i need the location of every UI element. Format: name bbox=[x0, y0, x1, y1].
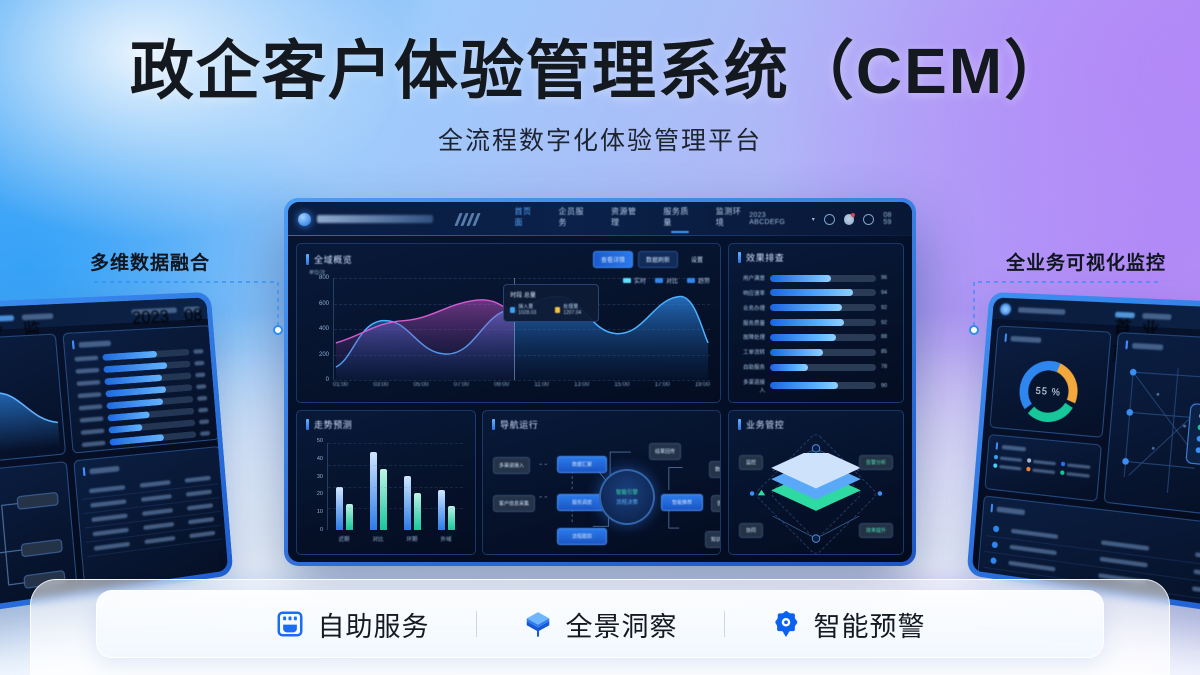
side-left-area-chart bbox=[0, 370, 67, 461]
side-right-map-card bbox=[1104, 332, 1200, 522]
trend-y-tick-4: 10 bbox=[317, 509, 323, 515]
side-left-bar-track bbox=[107, 408, 194, 422]
dashboard-nav: 首页面企员服务资源管理服务质量监测环境 bbox=[514, 206, 749, 232]
side-left-nav-item-1[interactable]: 业务管理 bbox=[0, 314, 14, 321]
x-tick-7: 15:00 bbox=[614, 382, 629, 394]
side-left-bar-label-6 bbox=[81, 428, 105, 435]
side-left-bar-label-3 bbox=[77, 392, 101, 398]
ranking-value-4: 88 bbox=[881, 334, 893, 340]
side-left-cell-2-1 bbox=[142, 508, 173, 516]
bell-icon[interactable] bbox=[844, 214, 855, 225]
flow-header: 导航运行 bbox=[483, 411, 720, 431]
x-axis: 01:0003:0005:0007:0009:0011:0013:0015:00… bbox=[333, 382, 710, 394]
x-tick-6: 13:00 bbox=[574, 382, 589, 394]
feature-label-1: 全景洞察 bbox=[566, 605, 678, 644]
side-right-donut-card: 55 % bbox=[989, 325, 1111, 437]
side-right-legend-item-4[interactable] bbox=[1026, 467, 1057, 475]
tooltip-item-1: 处理量 1207.04 bbox=[555, 303, 592, 316]
side-left-bar-value-7 bbox=[200, 431, 210, 436]
flow-output-top[interactable]: 结果回传 bbox=[649, 443, 681, 460]
ranking-label-2: 业务办理 bbox=[739, 304, 765, 312]
row-status-icon bbox=[993, 525, 999, 532]
row-status-icon bbox=[992, 541, 998, 548]
side-right-legend-item-2[interactable] bbox=[1061, 462, 1093, 470]
side-left-nav-item-2[interactable]: 监测分析 bbox=[22, 313, 54, 320]
flow-step-0[interactable]: 数据汇聚 bbox=[557, 456, 607, 473]
side-left-bar-list bbox=[74, 348, 210, 448]
trend-x-axis: 近期对比环期外域 bbox=[327, 532, 463, 546]
overview-header: 全域概览 查看详情 数据刷新 设置 bbox=[297, 244, 720, 268]
panel-flow: 导航运行 bbox=[482, 410, 721, 555]
y-tick-3: 200 bbox=[319, 352, 329, 358]
ranking-row: 自助服务78 bbox=[739, 363, 893, 371]
side-left-cell-1-0 bbox=[90, 499, 126, 508]
trend-chart: 50403020100 近期对比环期外域 bbox=[307, 441, 465, 546]
trend-y-tick-5: 0 bbox=[320, 527, 323, 533]
side-right-legend-item-3[interactable] bbox=[993, 463, 1023, 470]
nav-item-0[interactable]: 首页面 bbox=[514, 206, 539, 232]
flow-title: 导航运行 bbox=[500, 418, 538, 431]
decorative-slashes-icon bbox=[457, 213, 478, 226]
self-service-icon bbox=[275, 609, 305, 639]
side-left-bar-value-0 bbox=[193, 349, 203, 354]
ranking-track bbox=[770, 289, 876, 296]
plot-area: 时段 总量 接入量 1028.03处理量 1207.04 bbox=[333, 278, 710, 380]
logo-icon bbox=[298, 213, 311, 226]
panel-trend: 走势预测 50403020100 近期对比环期外域 bbox=[296, 410, 476, 555]
trend-y-tick-1: 40 bbox=[317, 456, 323, 462]
connector-left bbox=[92, 278, 286, 338]
side-left-bar-track bbox=[109, 431, 196, 446]
ranking-bar-list: 用户满意96响应速率94业务办理92服务质量92故障处理88工单流转85自助服务… bbox=[739, 274, 893, 394]
side-left-bar-track bbox=[104, 372, 191, 385]
ranking-value-1: 94 bbox=[881, 290, 893, 296]
trend-y-tick-3: 20 bbox=[317, 491, 323, 497]
layers-tag-bl[interactable]: 协同 bbox=[739, 523, 763, 538]
ranking-track bbox=[770, 334, 876, 341]
x-tick-2: 05:00 bbox=[414, 382, 429, 394]
trend-y-tick-0: 50 bbox=[317, 438, 323, 444]
side-left-cell-3-0 bbox=[92, 528, 128, 537]
side-left-table-card bbox=[73, 446, 228, 600]
avatar[interactable] bbox=[863, 214, 874, 225]
y-tick-2: 400 bbox=[319, 326, 329, 332]
overview-chart: 单位/次 8006004002000 bbox=[307, 278, 710, 394]
trend-bar-环期-计划 bbox=[404, 476, 411, 530]
x-tick-9: 19:00 bbox=[695, 382, 710, 394]
gear-alert-icon bbox=[771, 609, 801, 639]
trend-x-tick-1: 对比 bbox=[372, 535, 383, 543]
feature-panoramic-insight[interactable]: 全景洞察 bbox=[477, 605, 724, 644]
side-left-bar-track bbox=[106, 396, 193, 409]
side-left-bar-label-5 bbox=[80, 416, 104, 422]
trend-x-tick-0: 近期 bbox=[338, 535, 349, 543]
flow-diagram: 多渠道接入 客户信息采集 数据汇聚 服务调度 流程跟踪 智能引擎 流程决策 结果… bbox=[491, 439, 712, 548]
side-screen-left: 服务 业务管理 监测分析 2023 ABCDEFG 08 59 bbox=[0, 292, 233, 619]
flow-output-0[interactable]: 数据归集 bbox=[709, 461, 721, 478]
side-left-bar-value-6 bbox=[199, 419, 209, 424]
ranking-label-7: 多渠道接入 bbox=[739, 378, 765, 394]
ranking-row: 用户满意96 bbox=[739, 274, 893, 282]
network-map bbox=[1105, 353, 1200, 516]
trend-bar-环期-实际 bbox=[414, 493, 421, 530]
side-left-cell-0-0 bbox=[89, 485, 126, 493]
flow-input-0[interactable]: 多渠道接入 bbox=[493, 457, 530, 474]
x-tick-5: 11:00 bbox=[534, 382, 549, 394]
nav-item-1[interactable]: 企员服务 bbox=[559, 206, 592, 232]
ranking-value-7: 90 bbox=[881, 383, 893, 389]
x-tick-1: 03:00 bbox=[373, 382, 388, 394]
layers-title: 业务管控 bbox=[746, 418, 784, 431]
ranking-label-4: 故障处理 bbox=[739, 333, 765, 341]
panel-ranking: 效果排查 用户满意96响应速率94业务办理92服务质量92故障处理88工单流转8… bbox=[728, 243, 904, 403]
side-right-cell-0-0 bbox=[1011, 529, 1058, 539]
side-left-cell-4-0 bbox=[94, 542, 130, 551]
side-left-cell-4-2 bbox=[189, 531, 215, 539]
ranking-label-5: 工单流转 bbox=[739, 348, 765, 356]
side-left-cell-3-2 bbox=[188, 517, 214, 524]
ranking-value-0: 96 bbox=[881, 275, 893, 281]
view-detail-button[interactable]: 查看详情 bbox=[593, 251, 633, 268]
trend-bar-对比-计划 bbox=[370, 452, 377, 530]
ranking-value-5: 85 bbox=[881, 349, 893, 355]
trend-bar-外域-计划 bbox=[438, 490, 445, 530]
trend-plot bbox=[327, 443, 463, 530]
side-right-cell-3-2 bbox=[1190, 603, 1200, 612]
side-right-cell-0-2 bbox=[1195, 552, 1200, 564]
page-header: 政企客户体验管理系统（CEM） 全流程数字化体验管理平台 bbox=[0, 38, 1200, 157]
side-left-bar-label-2 bbox=[76, 380, 100, 386]
side-left-cell-3-1 bbox=[143, 522, 174, 530]
overview-buttons: 查看详情 数据刷新 设置 bbox=[593, 251, 711, 268]
ranking-label-0: 用户满意 bbox=[739, 274, 765, 282]
side-left-cell-0-2 bbox=[185, 476, 211, 483]
page-title: 政企客户体验管理系统（CEM） bbox=[0, 38, 1200, 105]
side-left-table bbox=[81, 471, 223, 558]
ranking-value-3: 92 bbox=[881, 320, 893, 326]
nav-item-3[interactable]: 服务质量 bbox=[663, 206, 696, 232]
ranking-label-6: 自助服务 bbox=[739, 363, 765, 371]
side-right-cell-2-0 bbox=[1008, 561, 1055, 572]
ranking-track bbox=[770, 275, 876, 282]
layers-header: 业务管控 bbox=[729, 411, 903, 431]
feature-bar: 自助服务 全景洞察 智能预警 bbox=[96, 590, 1104, 658]
annotation-right: 全业务可视化监控 bbox=[1006, 248, 1166, 275]
panel-overview: 全域概览 查看详情 数据刷新 设置 实时对比趋势 单位/次 8006004002… bbox=[296, 243, 721, 403]
ranking-label-1: 响应速率 bbox=[739, 289, 765, 297]
flow-output-2[interactable]: 知识库查询 bbox=[705, 531, 721, 548]
x-tick-8: 17:00 bbox=[655, 382, 670, 394]
y-tick-4: 0 bbox=[326, 377, 329, 383]
ranking-row: 服务质量92 bbox=[739, 319, 893, 327]
side-left-bar-value-5 bbox=[198, 408, 208, 413]
ranking-row: 响应速率94 bbox=[739, 289, 893, 297]
refresh-data-button[interactable]: 数据刷新 bbox=[638, 251, 678, 268]
page-subtitle: 全流程数字化体验管理平台 bbox=[0, 121, 1200, 157]
x-tick-3: 07:00 bbox=[454, 382, 469, 394]
ranking-track bbox=[770, 382, 876, 389]
feature-label-0: 自助服务 bbox=[318, 605, 430, 644]
side-right-legend-item-0[interactable] bbox=[994, 455, 1024, 462]
chevron-down-icon[interactable]: ▾ bbox=[812, 216, 815, 223]
layers-diagram: 监控 告警分析 协同 效率提升 bbox=[735, 439, 897, 548]
x-tick-0: 01:00 bbox=[333, 382, 348, 394]
side-left-bars-title bbox=[72, 338, 111, 349]
y-tick-0: 800 bbox=[319, 275, 329, 281]
ranking-row: 故障处理88 bbox=[739, 333, 893, 341]
layers-tag-tr[interactable]: 告警分析 bbox=[859, 455, 893, 470]
side-right-cell-1-1 bbox=[1100, 557, 1148, 568]
account-label[interactable]: 2023 ABCDEFG bbox=[749, 212, 803, 226]
trend-bar-对比-实际 bbox=[380, 469, 387, 530]
side-left-bars-card bbox=[62, 325, 219, 454]
side-left-bar-value-4 bbox=[197, 396, 207, 401]
trend-y-tick-2: 30 bbox=[317, 474, 323, 480]
side-right-legend-item-1[interactable] bbox=[1027, 458, 1058, 465]
side-left-cell-2-2 bbox=[187, 503, 213, 510]
trend-bar-外域-实际 bbox=[448, 506, 455, 530]
feature-smart-alert[interactable]: 智能预警 bbox=[725, 605, 972, 644]
side-left-bar-value-3 bbox=[196, 384, 206, 389]
clock-label: 08 59 bbox=[883, 212, 902, 226]
side-left-bar-track bbox=[102, 349, 189, 361]
side-left-cell-0-1 bbox=[140, 480, 171, 488]
side-left-bar-label-7 bbox=[82, 441, 106, 448]
panel-layers: 业务管控 bbox=[728, 410, 904, 555]
y-axis: 8006004002000 bbox=[307, 278, 331, 380]
nav-item-4[interactable]: 监测环境 bbox=[716, 206, 749, 232]
trend-x-tick-2: 环期 bbox=[406, 535, 417, 543]
feature-label-2: 智能预警 bbox=[814, 605, 926, 644]
side-left-bar-track bbox=[105, 384, 192, 397]
overview-title: 全域概览 bbox=[314, 253, 352, 266]
flow-hub-line2: 流程决策 bbox=[616, 498, 638, 506]
chart-tooltip: 时段 总量 接入量 1028.03处理量 1207.04 bbox=[503, 284, 599, 322]
ranking-label-3: 服务质量 bbox=[739, 319, 765, 327]
flow-hub[interactable]: 智能引擎 流程决策 bbox=[599, 469, 655, 525]
feature-self-service[interactable]: 自助服务 bbox=[229, 605, 476, 644]
y-tick-1: 600 bbox=[319, 301, 329, 307]
side-left-cell-1-2 bbox=[186, 489, 212, 496]
main-screen: 首页面企员服务资源管理服务质量监测环境 2023 ABCDEFG ▾ 08 59… bbox=[284, 198, 916, 566]
flow-output-1[interactable]: 告警与通知 bbox=[711, 495, 721, 512]
connector-right bbox=[956, 278, 1160, 338]
tooltip-title: 时段 总量 bbox=[510, 290, 592, 299]
ranking-track bbox=[770, 304, 876, 311]
side-right-legend-list bbox=[993, 455, 1093, 478]
side-right-map-title bbox=[1125, 340, 1163, 351]
side-right-legend-title bbox=[996, 442, 1027, 452]
side-left-bar-value-2 bbox=[195, 372, 205, 377]
flow-step-2[interactable]: 流程跟踪 bbox=[557, 528, 607, 545]
ranking-row: 工单流转85 bbox=[739, 348, 893, 356]
layers-tag-tl[interactable]: 监控 bbox=[739, 455, 763, 470]
ranking-value-2: 92 bbox=[881, 305, 893, 311]
trend-y-axis: 50403020100 bbox=[307, 441, 325, 530]
layers-cube-icon bbox=[523, 609, 553, 639]
trend-x-tick-3: 外域 bbox=[440, 535, 451, 543]
x-tick-4: 09:00 bbox=[494, 382, 509, 394]
brand-name bbox=[317, 215, 434, 223]
ranking-row: 多渠道接入90 bbox=[739, 378, 893, 394]
side-left-bar-label-4 bbox=[78, 404, 102, 410]
ranking-track bbox=[770, 364, 876, 371]
trend-header: 走势预测 bbox=[297, 411, 475, 431]
ranking-track bbox=[770, 349, 876, 356]
side-left-cell-2-0 bbox=[91, 513, 127, 522]
side-left-bar-label-1 bbox=[75, 368, 99, 374]
tooltip-item-0: 接入量 1028.03 bbox=[510, 303, 547, 316]
ranking-track bbox=[770, 319, 876, 326]
flow-input-1[interactable]: 客户信息采集 bbox=[493, 495, 535, 512]
ranking-row: 业务办理92 bbox=[739, 304, 893, 312]
side-left-chart-card bbox=[0, 333, 66, 467]
side-right-cell-0-1 bbox=[1101, 540, 1149, 551]
ranking-title: 效果排查 bbox=[746, 251, 784, 264]
side-left-bar-value-1 bbox=[194, 361, 204, 366]
ranking-value-6: 78 bbox=[881, 364, 893, 370]
side-right-legend-card bbox=[984, 434, 1102, 502]
side-screen-right: 首页 业务管理 55 % bbox=[967, 292, 1200, 619]
side-right-legend-item-5[interactable] bbox=[1060, 470, 1092, 478]
side-left-cell-1-1 bbox=[141, 494, 172, 502]
side-right-cell-1-0 bbox=[1010, 545, 1057, 556]
side-left-table-title bbox=[83, 464, 120, 477]
side-left-bar-label-0 bbox=[74, 356, 98, 362]
row-status-icon bbox=[990, 557, 996, 564]
side-right-list-title bbox=[990, 504, 1025, 517]
dashboard-topbar-right: 2023 ABCDEFG ▾ 08 59 bbox=[749, 212, 902, 226]
ranking-header: 效果排查 bbox=[729, 244, 903, 264]
annotation-left: 多维数据融合 bbox=[90, 248, 210, 275]
trend-title: 走势预测 bbox=[314, 418, 352, 431]
layers-tag-br[interactable]: 效率提升 bbox=[859, 523, 893, 538]
settings-button[interactable]: 设置 bbox=[683, 251, 711, 268]
dashboard-topbar: 首页面企员服务资源管理服务质量监测环境 2023 ABCDEFG ▾ 08 59 bbox=[288, 202, 912, 236]
flow-step-right[interactable]: 智能推荐 bbox=[661, 494, 703, 511]
side-left-bar-track bbox=[103, 361, 190, 373]
tooltip-items: 接入量 1028.03处理量 1207.04 bbox=[510, 303, 592, 316]
side-left-cell-4-1 bbox=[144, 536, 175, 544]
flow-hub-line1: 智能引擎 bbox=[616, 488, 638, 496]
nav-item-2[interactable]: 资源管理 bbox=[611, 206, 644, 232]
refresh-icon[interactable] bbox=[824, 214, 835, 225]
